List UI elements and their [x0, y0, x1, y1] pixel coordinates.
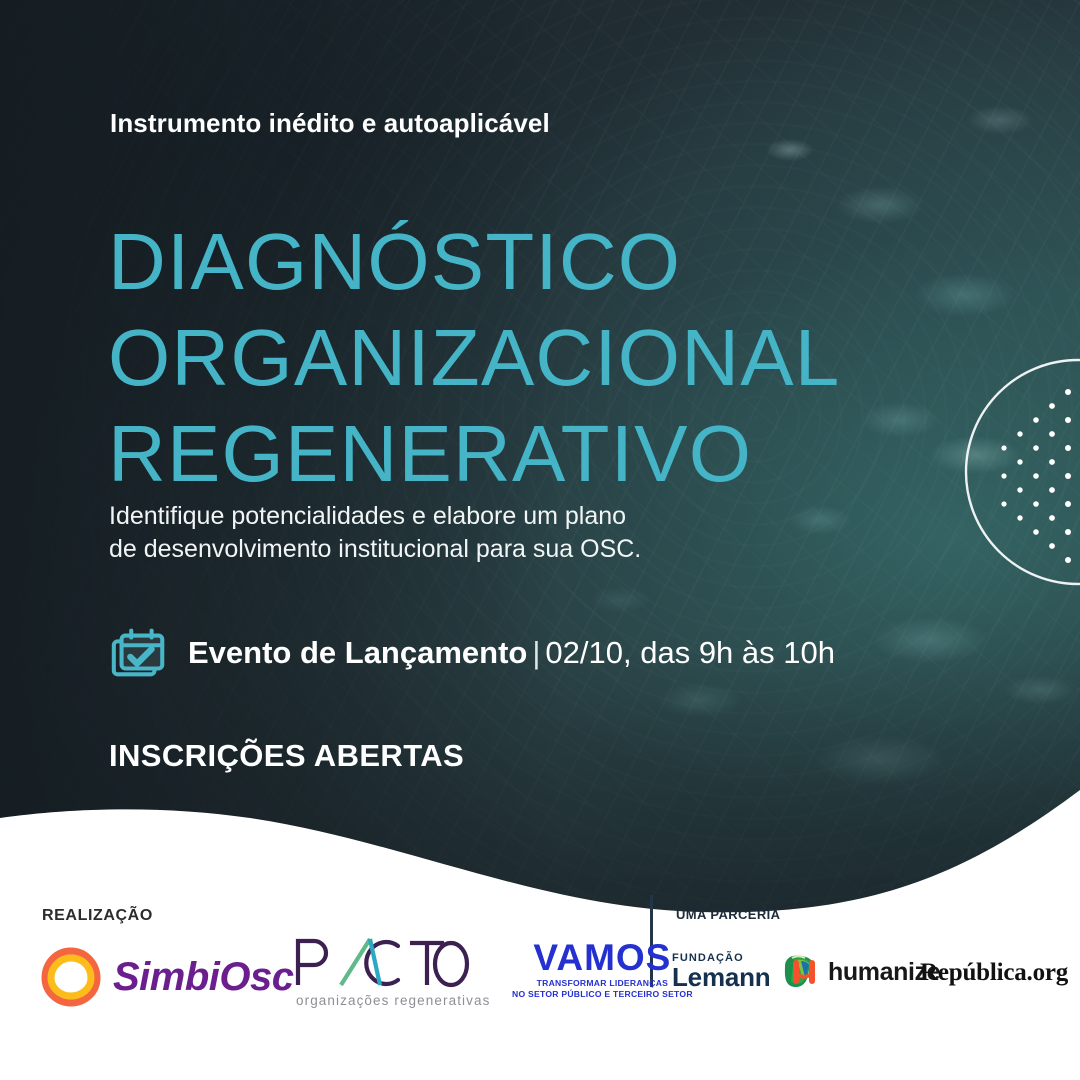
event-datetime: 02/10, das 9h às 10h: [545, 635, 835, 670]
headline-line-3: REGENERATIVO: [108, 406, 968, 502]
logo-pacto[interactable]: organizações regenerativas: [292, 935, 490, 1008]
simbiosc-wordmark: SimbiOsc: [113, 955, 294, 1000]
logo-strip: SimbiOsc organizações regenerativas: [0, 935, 1080, 1025]
lemann-name-label: Lemann: [672, 964, 770, 991]
logo-simbiosc[interactable]: SimbiOsc: [40, 947, 294, 1007]
page-title: DIAGNÓSTICO ORGANIZACIONAL REGENERATIVO: [108, 214, 968, 502]
event-separator: |: [527, 635, 545, 670]
promo-poster: Instrumento inédito e autoaplicável DIAG…: [0, 0, 1080, 1080]
footer-section: REALIZAÇÃO UMA PARCERIA SimbiOsc: [0, 895, 1080, 1080]
vamos-tagline-line-1: TRANSFORMAR LIDERANÇAS: [512, 978, 693, 989]
humanize-mark-icon: [790, 957, 818, 987]
hero-content: Instrumento inédito e autoaplicável DIAG…: [0, 0, 1080, 930]
parceria-label: UMA PARCERIA: [676, 907, 780, 922]
logo-vamos[interactable]: VAMOS TRANSFORMAR LIDERANÇAS NO SETOR PÚ…: [512, 939, 693, 1000]
lemann-wordmark: FUNDAÇÃO Lemann: [672, 952, 770, 991]
vamos-tagline-line-2: NO SETOR PÚBLICO E TERCEIRO SETOR: [512, 989, 693, 1000]
vamos-tagline: TRANSFORMAR LIDERANÇAS NO SETOR PÚBLICO …: [512, 978, 693, 1000]
vamos-wordmark: VAMOS: [533, 939, 671, 977]
pacto-wordmark-icon: [292, 935, 470, 991]
subheadline-line-2: de desenvolvimento institucional para su…: [109, 533, 749, 566]
subheadline: Identifique potencialidades e elabore um…: [109, 500, 749, 566]
registration-status-text: INSCRIÇÕES ABERTAS: [109, 738, 464, 774]
republica-wordmark: República.org: [920, 959, 1068, 987]
logo-humanize[interactable]: humanize: [790, 957, 940, 987]
headline-line-2: ORGANIZACIONAL: [108, 310, 968, 406]
event-info-row: Evento de Lançamento|02/10, das 9h às 10…: [108, 622, 835, 684]
subheadline-line-1: Identifique potencialidades e elabore um…: [109, 500, 749, 533]
event-text: Evento de Lançamento|02/10, das 9h às 10…: [188, 635, 835, 671]
pacto-tagline: organizações regenerativas: [296, 993, 490, 1008]
simbiosc-mark-icon: [40, 947, 102, 1007]
headline-line-1: DIAGNÓSTICO: [108, 214, 968, 310]
eyebrow-text: Instrumento inédito e autoaplicável: [110, 108, 550, 139]
calendar-check-icon: [108, 622, 170, 684]
logo-republica-org[interactable]: República.org: [920, 959, 1068, 987]
event-label: Evento de Lançamento: [188, 635, 527, 670]
realizacao-label: REALIZAÇÃO: [42, 907, 153, 925]
